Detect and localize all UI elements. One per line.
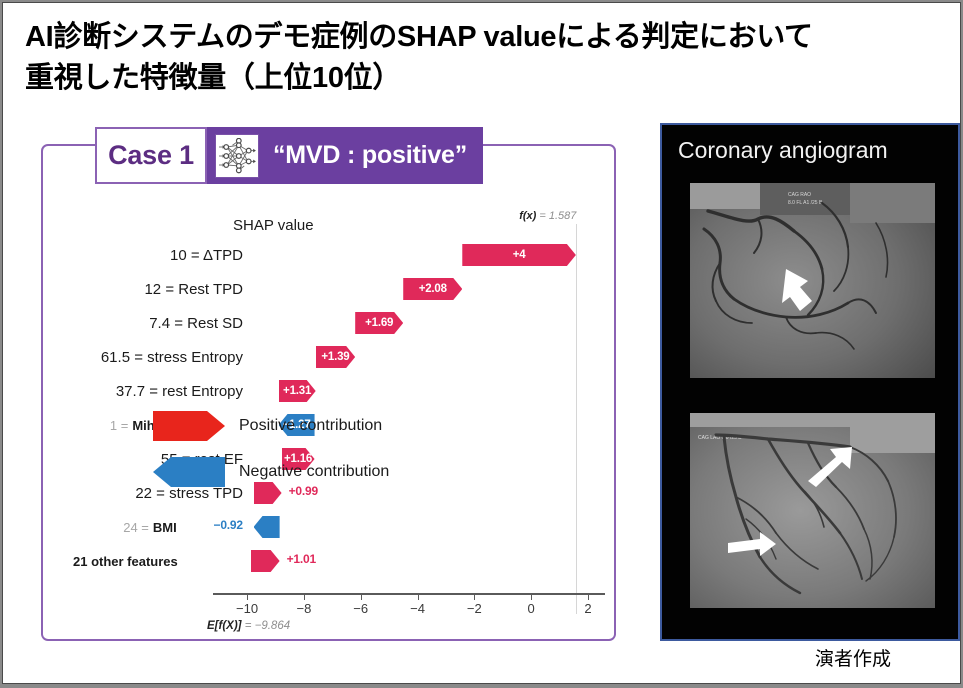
slide-canvas: AI診断システムのデモ症例のSHAP valueによる判定において 重視した特徴… [2, 2, 961, 684]
verdict-band: “MVD : positive” [207, 127, 483, 184]
bar-row: +2.08 [249, 272, 594, 306]
bar-value-label: −0.92 [214, 518, 243, 532]
title-line-1: AI診断システムのデモ症例のSHAP valueによる判定において [25, 21, 813, 53]
axis-tick [304, 595, 305, 600]
angiogram-panel: Coronary angiogram CAG RAO 8.0 FL A1 /25… [660, 123, 960, 641]
chart-legend: Positive contribution Negative contribut… [153, 403, 389, 495]
positive-bar: +1.69 [355, 312, 403, 334]
axis-tick [418, 595, 419, 600]
axis-tick-label: −2 [467, 601, 482, 616]
base-value: = −9.864 [245, 620, 290, 632]
feature-label: 61.5 = stress Entropy [51, 340, 249, 374]
bar-row: +1.39 [249, 340, 594, 374]
axis-line [213, 593, 605, 595]
axis-tick [474, 595, 475, 600]
feature-value: 24 = [123, 520, 149, 535]
positive-bar [251, 550, 280, 572]
axis-tick [247, 595, 248, 600]
case-header-band: Case 1 [95, 127, 483, 184]
feature-label: 21 other features [51, 544, 249, 578]
bar-value-label: +1.31 [279, 385, 316, 397]
case-label: Case 1 [108, 140, 194, 171]
axis-tick-label: −8 [296, 601, 311, 616]
positive-bar: +4 [462, 244, 576, 266]
output-prefix: f(x) [519, 210, 536, 222]
chart-title: SHAP value [233, 217, 314, 234]
base-value-prefix: E[f(X)] [207, 620, 242, 632]
negative-arrow-icon [153, 457, 225, 487]
base-value-annotation: E[f(X)] = −9.864 [207, 620, 290, 632]
axis-tick-label: −4 [410, 601, 425, 616]
case-box: Case 1 [95, 127, 207, 184]
angiogram-title: Coronary angiogram [678, 137, 888, 164]
axis-tick [588, 595, 589, 600]
verdict-label: “MVD : positive” [273, 141, 467, 170]
output-value-annotation: f(x) = 1.587 [519, 210, 576, 222]
bar-value-label: +2.08 [403, 283, 462, 295]
bar-row: +4 [249, 238, 594, 272]
legend-item-positive: Positive contribution [153, 403, 389, 449]
bar-value-label: +4 [462, 249, 576, 261]
axis-tick [361, 595, 362, 600]
positive-bar: +1.39 [316, 346, 355, 368]
title-line-2: 重視した特徴量（上位10位） [25, 58, 943, 99]
legend-label-positive: Positive contribution [239, 417, 382, 435]
positive-bar: +1.31 [279, 380, 316, 402]
feature-label: 12 = Rest TPD [51, 272, 249, 306]
svg-text:8.0 FL A1 /25 B: 8.0 FL A1 /25 B [788, 200, 823, 206]
bar-row: +1.69 [249, 306, 594, 340]
negative-bar [254, 516, 280, 538]
bar-row: −0.92 [249, 510, 594, 544]
legend-label-negative: Negative contribution [239, 463, 389, 481]
axis-tick-label: −6 [353, 601, 368, 616]
shap-waterfall-plot: SHAP value f(x) = 1.587 10 = ΔTPD12 = Re… [43, 198, 618, 638]
page-title: AI診断システムのデモ症例のSHAP valueによる判定において 重視した特徴… [25, 17, 943, 98]
output-value: = 1.587 [539, 210, 576, 222]
axis-tick-label: −10 [236, 601, 258, 616]
axis-tick-label: 2 [584, 601, 591, 616]
bar-row: +1.01 [249, 544, 594, 578]
bar-value-label: +1.69 [355, 317, 403, 329]
angiogram-top: CAG RAO 8.0 FL A1 /25 B [690, 183, 935, 378]
bar-value-label: +1.01 [287, 552, 316, 566]
feature-label: 7.4 = Rest SD [51, 306, 249, 340]
feature-value: 1 = [110, 418, 128, 433]
axis-tick [531, 595, 532, 600]
neural-network-icon [215, 134, 259, 178]
svg-text:CAG RAO: CAG RAO [788, 192, 811, 198]
angiogram-bottom: CAG LAO 8.0 /25 B [690, 413, 935, 608]
bar-value-label: +1.39 [316, 351, 355, 363]
positive-bar: +2.08 [403, 278, 462, 300]
positive-arrow-icon [153, 411, 225, 441]
legend-item-negative: Negative contribution [153, 449, 389, 495]
credit-text: 演者作成 [815, 644, 891, 671]
axis-tick-label: 0 [528, 601, 535, 616]
feature-name: BMI [153, 520, 177, 535]
feature-label: 10 = ΔTPD [51, 238, 249, 272]
shap-panel: Case 1 [41, 144, 616, 641]
